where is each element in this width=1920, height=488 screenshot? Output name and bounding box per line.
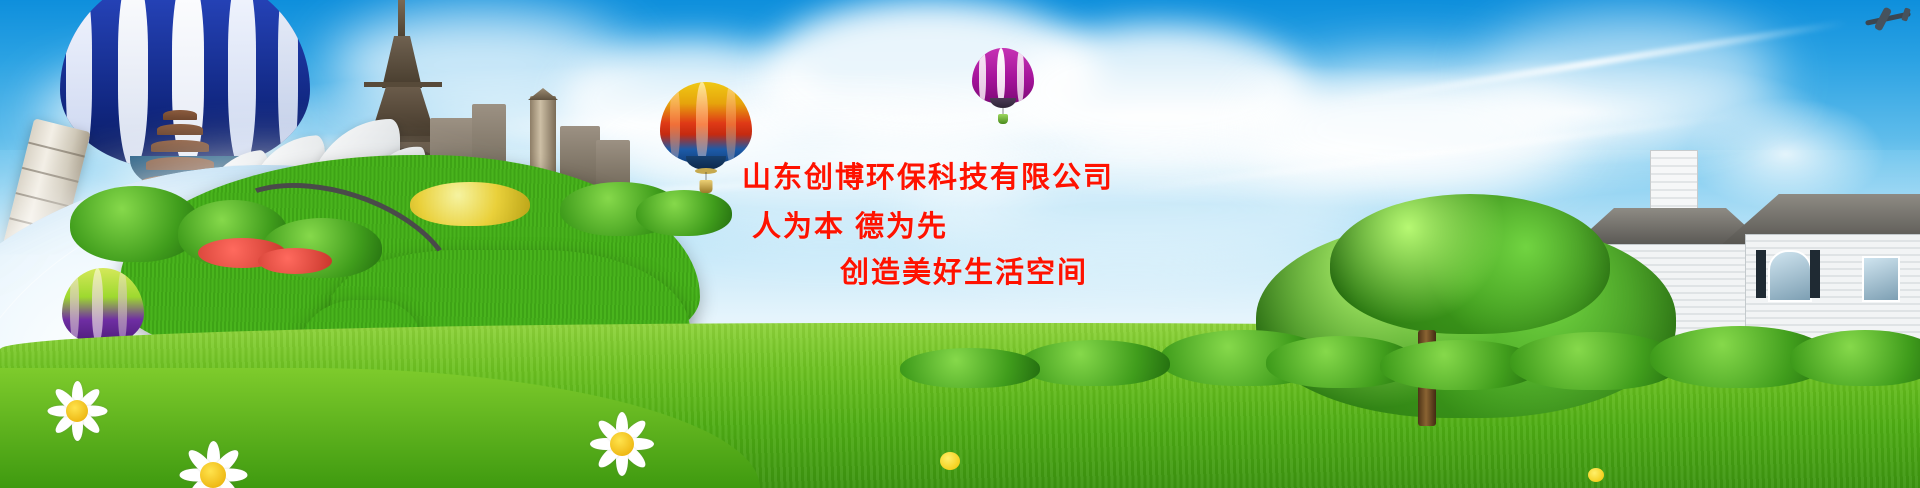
white-daisy-center (168, 430, 258, 488)
balloon-gore (1017, 48, 1024, 104)
white-daisy-right (580, 402, 664, 486)
balloon-gore (118, 268, 127, 344)
background-shrub (900, 348, 1040, 388)
globe-flowerbed (258, 248, 332, 274)
yellow-wildflower (1588, 468, 1604, 482)
balloon-envelope (972, 48, 1034, 104)
eiffel-spire (398, 0, 405, 40)
balloon-gore (726, 82, 736, 164)
balloon-gore (696, 82, 708, 164)
eiffel-upper (382, 36, 422, 88)
balloon-gore (92, 268, 103, 344)
pisa-tier (22, 167, 79, 183)
balloon-envelope (62, 268, 144, 344)
background-shrub (1020, 340, 1170, 386)
slogan-line-1: 人为本 德为先 (752, 203, 948, 245)
balloon-gore (997, 48, 1005, 104)
balloon-red-yellow-blue (660, 82, 752, 164)
globe-shrub (410, 182, 530, 226)
balloon-gore (70, 268, 79, 344)
pisa-tier (28, 142, 85, 158)
balloon-green-purple (62, 268, 144, 344)
white-daisy-left (38, 372, 116, 450)
balloon-basket (700, 180, 713, 193)
house-window (1768, 250, 1812, 302)
globe-shrub (636, 190, 732, 236)
balloon-basket (998, 114, 1008, 124)
large-foreground-tree-canopy (1330, 194, 1610, 334)
pagoda-roof (157, 124, 203, 135)
company-name-text: 山东创博环保科技有限公司 (742, 154, 1114, 196)
balloon-envelope (660, 82, 752, 164)
balloon-purple-white (972, 48, 1034, 104)
pisa-tier (16, 192, 73, 208)
daisy-core (66, 400, 88, 422)
background-shrub (1790, 330, 1920, 386)
yellow-wildflower (940, 452, 960, 470)
slogan-line-2: 创造美好生活空间 (840, 249, 1088, 291)
company-hero-banner: 山东创博环保科技有限公司 人为本 德为先 创造美好生活空间 (0, 0, 1920, 488)
pagoda-roof (163, 110, 197, 120)
house-window (1862, 256, 1900, 302)
daisy-core (610, 432, 634, 456)
daisy-core (200, 462, 226, 488)
eiffel-platform (364, 82, 442, 87)
balloon-gore (670, 82, 680, 164)
balloon-gore (979, 48, 986, 104)
house-window-shutter (1810, 250, 1820, 298)
house-window-shutter (1756, 250, 1766, 298)
